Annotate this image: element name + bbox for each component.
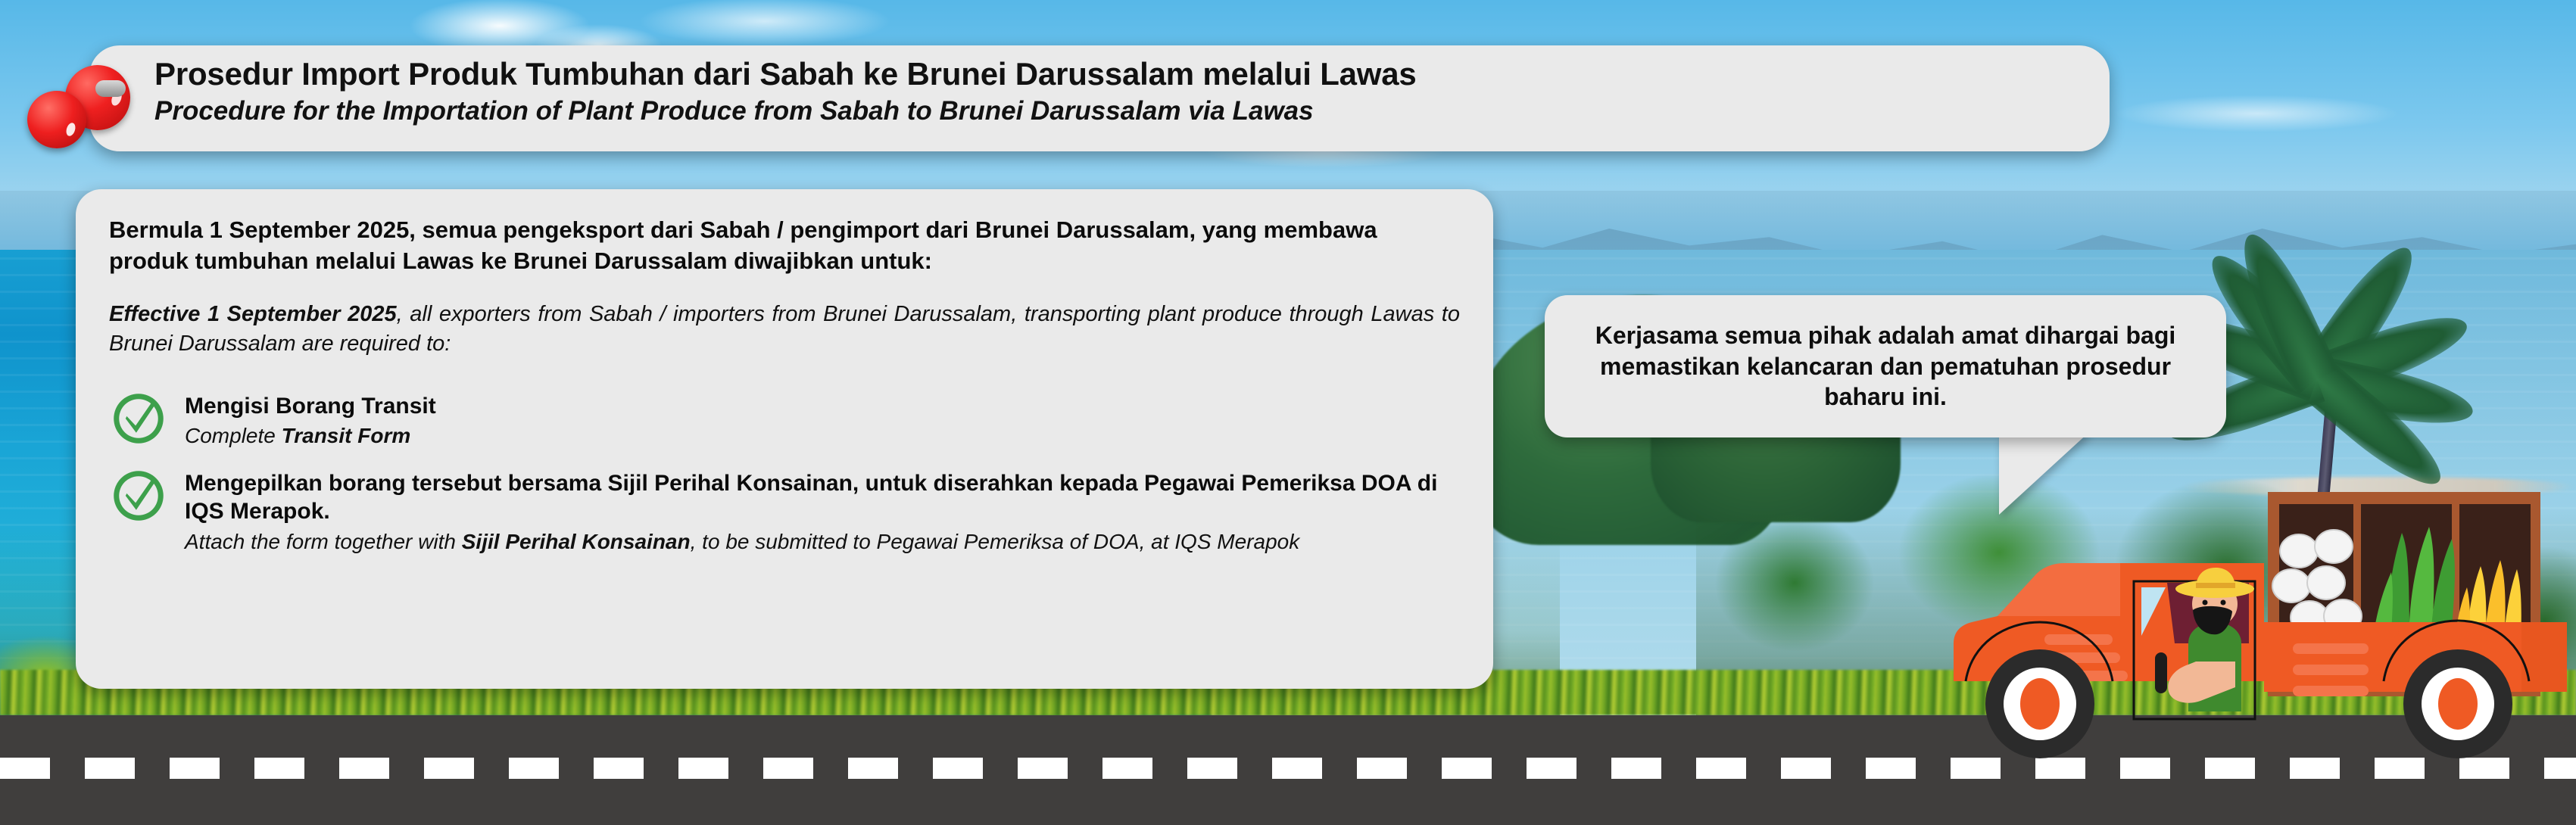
poster-canvas: Prosedur Import Produk Tumbuhan dari Sab…	[0, 0, 2576, 825]
lead-paragraph-ms: Bermula 1 September 2025, semua pengeksp…	[109, 215, 1460, 277]
item-en-prefix: Attach the form together with	[185, 530, 462, 553]
push-pin-icon	[23, 47, 129, 145]
item-en-bold: Sijil Perihal Konsainan	[462, 530, 691, 553]
lead-paragraph-en: Effective 1 September 2025, all exporter…	[109, 300, 1460, 359]
wheel	[2403, 649, 2512, 758]
item-label-en: Complete Transit Form	[185, 422, 1460, 449]
speech-bubble: Kerjasama semua pihak adalah amat diharg…	[1545, 295, 2226, 437]
page-subtitle: Procedure for the Importation of Plant P…	[154, 95, 2110, 126]
list-item-text: Mengepilkan borang tersebut bersama Siji…	[185, 469, 1460, 556]
orange-pickup-truck-icon	[1938, 454, 2576, 787]
page-title: Prosedur Import Produk Tumbuhan dari Sab…	[154, 56, 2110, 92]
body-panel: Bermula 1 September 2025, semua pengeksp…	[76, 189, 1493, 689]
green-check-circle-icon	[109, 389, 168, 448]
list-item-text: Mengisi Borang Transit Complete Transit …	[185, 392, 1460, 450]
speech-bubble-text: Kerjasama semua pihak adalah amat diharg…	[1545, 320, 2226, 413]
item-en-suffix: , to be submitted to Pegawai Pemeriksa o…	[691, 530, 1300, 553]
item-label-ms: Mengepilkan borang tersebut bersama Siji…	[185, 469, 1460, 527]
wheel	[1985, 649, 2094, 758]
green-check-circle-icon	[109, 466, 168, 525]
item-en-prefix: Complete	[185, 424, 282, 447]
item-label-en: Attach the form together with Sijil Peri…	[185, 528, 1460, 555]
list-item: Mengepilkan borang tersebut bersama Siji…	[109, 469, 1460, 556]
item-label-ms: Mengisi Borang Transit	[185, 392, 1460, 421]
header-panel: Prosedur Import Produk Tumbuhan dari Sab…	[89, 45, 2110, 151]
item-en-bold: Transit Form	[282, 424, 411, 447]
list-item: Mengisi Borang Transit Complete Transit …	[109, 392, 1460, 450]
lead-en-bold: Effective 1 September 2025	[109, 302, 397, 326]
requirements-list: Mengisi Borang Transit Complete Transit …	[109, 392, 1460, 556]
